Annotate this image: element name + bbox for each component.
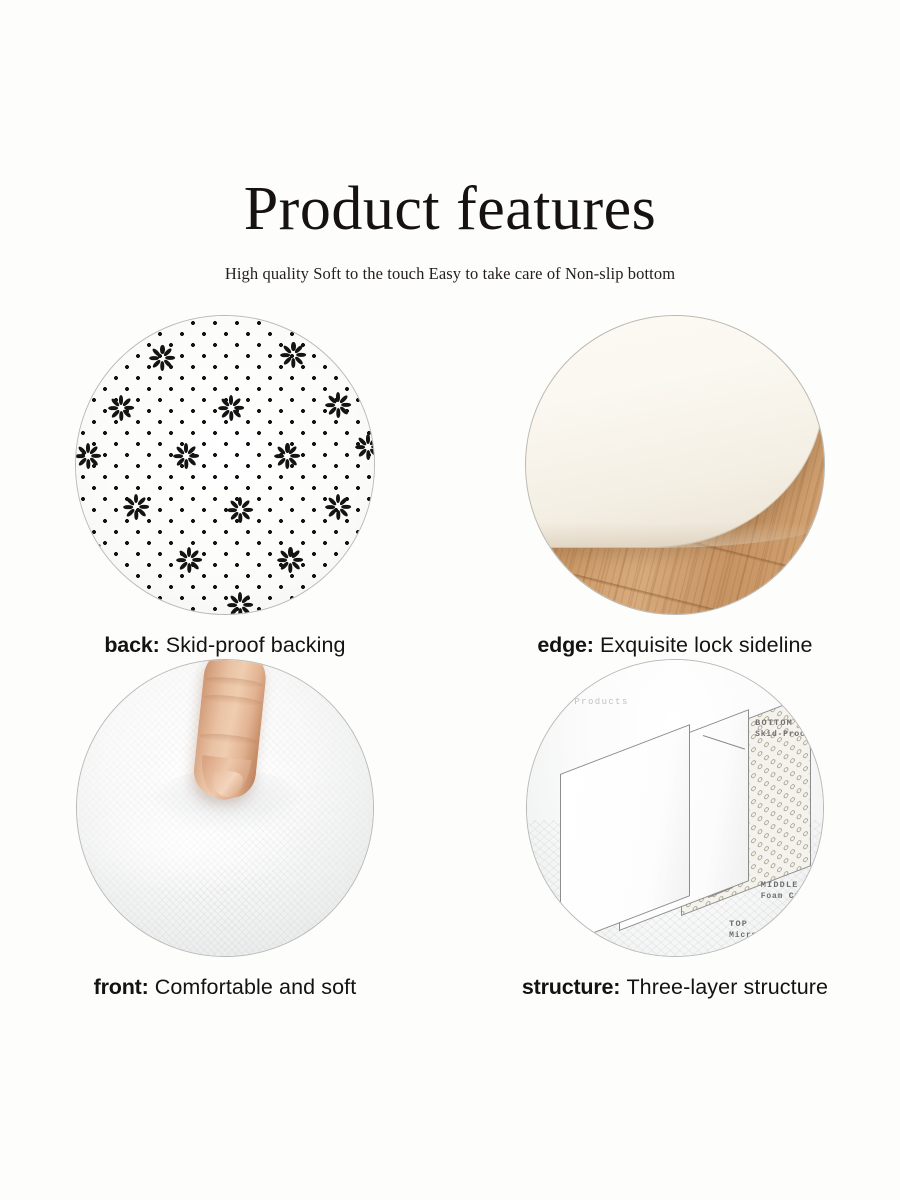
flower-rosette-icon [147, 343, 177, 373]
flower-rosette-icon [76, 539, 106, 569]
caption-separator-back: : [153, 633, 160, 657]
circle-frame-back [75, 315, 375, 615]
feature-card-back: back: Skid-proof backing [0, 315, 450, 659]
page-header: Product features High quality Soft to th… [0, 0, 900, 284]
caption-value-edge: Exquisite lock sideline [600, 633, 813, 657]
flower-rosette-icon [106, 393, 136, 423]
label-layer-bottom-name: BOTTOM [755, 718, 811, 728]
circle-frame-structure: Products BOTTOM Skid-Proof MIDDLE Foam C… [526, 659, 824, 957]
flower-rosette-icon [216, 393, 246, 423]
label-layer-top-name: TOP [729, 919, 796, 929]
caption-key-structure: structure [522, 975, 613, 999]
knuckle-crease [204, 693, 262, 707]
flower-rosette-icon [121, 492, 151, 522]
flower-rosette-icon [323, 390, 353, 420]
label-layer-top: TOP Microfiber S [729, 919, 796, 940]
caption-value-back: Skid-proof backing [166, 633, 346, 657]
flower-rosette-icon [323, 492, 353, 522]
label-layer-bottom-desc: Skid-Proof [755, 730, 811, 739]
caption-key-back: back [104, 633, 152, 657]
feature-card-structure: Products BOTTOM Skid-Proof MIDDLE Foam C… [450, 659, 900, 1001]
caption-separator-edge: : [587, 633, 594, 657]
label-layer-middle: MIDDLE Foam Cush [761, 880, 811, 901]
caption-key-edge: edge [537, 633, 586, 657]
feature-image-front [76, 659, 374, 957]
feature-image-edge [525, 315, 825, 615]
label-layer-middle-name: MIDDLE [761, 880, 811, 890]
caption-key-front: front [94, 975, 142, 999]
feature-card-edge: edge: Exquisite lock sideline [450, 315, 900, 659]
page-title: Product features [0, 178, 900, 240]
flower-rosette-icon [75, 441, 103, 471]
label-layer-top-desc: Microfiber S [729, 931, 796, 940]
caption-separator-structure: : [613, 975, 620, 999]
knuckle-crease [200, 732, 258, 746]
flower-rosette-icon [127, 593, 157, 615]
caption-separator-front: : [142, 975, 149, 999]
caption-back: back: Skid-proof backing [0, 633, 450, 659]
knuckle-crease [205, 675, 263, 689]
feature-grid: back: Skid-proof backing edge: Exquisite… [0, 315, 900, 1001]
flower-rosette-icon [273, 441, 303, 471]
feature-image-structure: Products BOTTOM Skid-Proof MIDDLE Foam C… [526, 659, 824, 957]
caption-value-front: Comfortable and soft [155, 975, 357, 999]
feature-image-back [75, 315, 375, 615]
flower-rosette-icon [276, 545, 306, 575]
products-watermark: Products [574, 697, 628, 707]
flower-rosette-icon [225, 495, 255, 525]
dot-grid-pattern [75, 315, 375, 615]
label-layer-middle-desc: Foam Cush [761, 892, 811, 901]
circle-frame-edge [525, 315, 825, 615]
flower-rosette-icon [225, 590, 255, 615]
page-subtitle: High quality Soft to the touch Easy to t… [0, 264, 900, 284]
flower-rosette-icon [353, 432, 375, 462]
feature-card-front: front: Comfortable and soft [0, 659, 450, 1001]
circle-frame-front [76, 659, 374, 957]
caption-edge: edge: Exquisite lock sideline [450, 633, 900, 659]
caption-front: front: Comfortable and soft [0, 975, 450, 1001]
flower-rosette-icon [171, 441, 201, 471]
flower-rosette-icon [279, 340, 309, 370]
caption-structure: structure: Three-layer structure [450, 975, 900, 1001]
label-layer-bottom: BOTTOM Skid-Proof [755, 718, 811, 739]
flower-rosette-icon [174, 545, 204, 575]
fingernail [211, 770, 244, 799]
caption-value-structure: Three-layer structure [626, 975, 828, 999]
